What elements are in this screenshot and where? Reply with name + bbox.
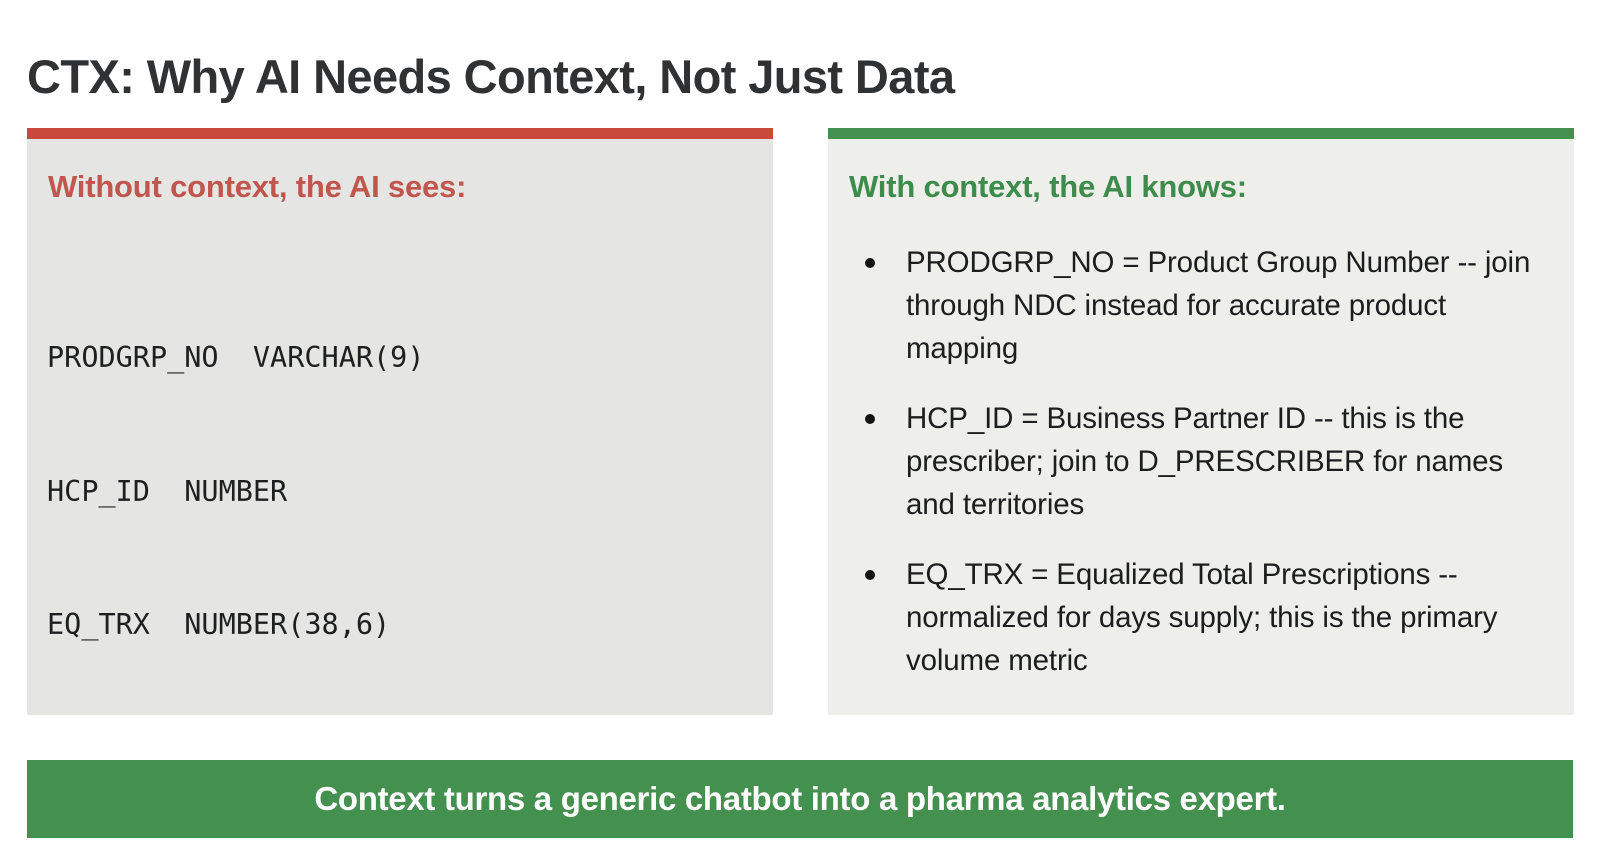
list-item: PRODGRP_NO = Product Group Number -- joi… <box>848 241 1550 370</box>
context-bullet-list: PRODGRP_NO = Product Group Number -- joi… <box>848 241 1550 682</box>
list-item-text: HCP_ID = Business Partner ID -- this is … <box>906 402 1503 521</box>
with-context-card: With context, the AI knows: PRODGRP_NO =… <box>828 128 1574 715</box>
bullet-dot-icon <box>865 414 875 424</box>
without-context-card: Without context, the AI sees: PRODGRP_NO… <box>27 128 773 715</box>
with-context-heading: With context, the AI knows: <box>849 167 1550 207</box>
takeaway-banner-text: Context turns a generic chatbot into a p… <box>314 779 1285 819</box>
without-context-heading: Without context, the AI sees: <box>48 167 751 207</box>
with-context-card-body: With context, the AI knows: PRODGRP_NO =… <box>828 139 1574 715</box>
success-accent-bar <box>828 128 1574 139</box>
list-item-text: EQ_TRX = Equalized Total Prescriptions -… <box>906 558 1497 677</box>
schema-code-line: HCP_ID NUMBER <box>47 470 751 515</box>
schema-code-line: PRODGRP_NO VARCHAR(9) <box>47 336 751 381</box>
schema-code-block: PRODGRP_NO VARCHAR(9) HCP_ID NUMBER EQ_T… <box>47 247 751 737</box>
without-context-card-body: Without context, the AI sees: PRODGRP_NO… <box>27 139 773 715</box>
bullet-dot-icon <box>865 570 875 580</box>
slide-root: CTX: Why AI Needs Context, Not Just Data… <box>0 0 1600 858</box>
list-item-text: PRODGRP_NO = Product Group Number -- joi… <box>906 246 1530 365</box>
list-item: HCP_ID = Business Partner ID -- this is … <box>848 397 1550 526</box>
takeaway-banner: Context turns a generic chatbot into a p… <box>27 760 1573 838</box>
page-title: CTX: Why AI Needs Context, Not Just Data <box>27 47 1567 107</box>
bullet-dot-icon <box>865 258 875 268</box>
schema-code-line: EQ_TRX NUMBER(38,6) <box>47 603 751 648</box>
list-item: EQ_TRX = Equalized Total Prescriptions -… <box>848 553 1550 682</box>
danger-accent-bar <box>27 128 773 139</box>
